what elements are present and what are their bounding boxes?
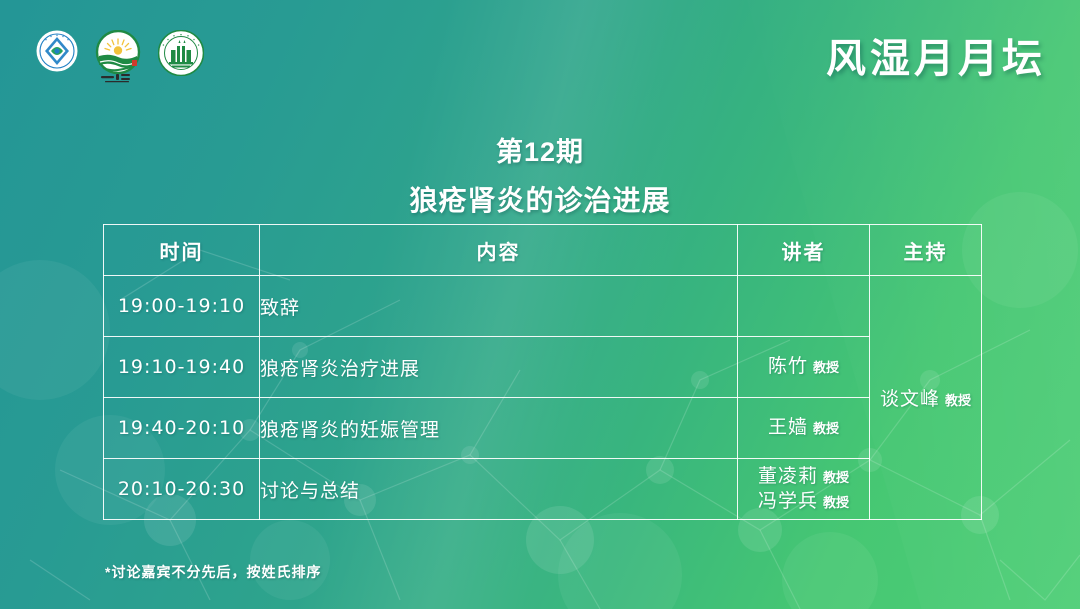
cell-time: 19:40-20:10 bbox=[104, 398, 260, 459]
cell-speaker: 王嫱教授 bbox=[738, 398, 870, 459]
host-title: 教授 bbox=[945, 393, 971, 408]
issue-number: 第12期 bbox=[0, 130, 1080, 169]
speaker-title: 教授 bbox=[813, 421, 839, 436]
host-name: 谈文峰 bbox=[880, 389, 940, 410]
table-row: 20:10-20:30 讨论与总结 董凌莉教授 冯学兵教授 bbox=[104, 459, 982, 520]
cell-time: 20:10-20:30 bbox=[104, 459, 260, 520]
cell-content: 讨论与总结 bbox=[260, 459, 738, 520]
speaker-entry: 冯学兵教授 bbox=[738, 489, 869, 514]
table-row: 19:40-20:10 狼疮肾炎的妊娠管理 王嫱教授 bbox=[104, 398, 982, 459]
cell-speaker: 董凌莉教授 冯学兵教授 bbox=[738, 459, 870, 520]
cell-speaker: 陈竹教授 bbox=[738, 337, 870, 398]
speaker-given: 竹 bbox=[788, 356, 808, 377]
speaker-given: 嫱 bbox=[788, 417, 808, 438]
brand-title: 风湿月月坛 bbox=[826, 26, 1046, 84]
poster-canvas: 风湿月月坛 第12期 狼疮肾炎的诊治进展 时间 内容 讲者 主持 19:00-1… bbox=[0, 0, 1080, 609]
schedule-table: 时间 内容 讲者 主持 19:00-19:10 致辞 谈文峰教授 19:10-1… bbox=[103, 224, 982, 520]
table-row: 19:10-19:40 狼疮肾炎治疗进展 陈竹教授 bbox=[104, 337, 982, 398]
cell-time: 19:10-19:40 bbox=[104, 337, 260, 398]
cell-host: 谈文峰教授 bbox=[870, 276, 982, 520]
speaker-title: 教授 bbox=[823, 470, 849, 485]
speaker-surname: 陈 bbox=[768, 356, 788, 377]
speaker-entry: 王嫱教授 bbox=[738, 415, 869, 440]
cell-speaker bbox=[738, 276, 870, 337]
column-header-content: 内容 bbox=[260, 225, 738, 276]
speaker-surname: 冯学兵 bbox=[758, 491, 818, 512]
column-header-host: 主持 bbox=[870, 225, 982, 276]
speaker-surname: 王 bbox=[768, 417, 788, 438]
logo-hospital-academy bbox=[158, 30, 204, 76]
cell-content: 致辞 bbox=[260, 276, 738, 337]
table-row: 19:00-19:10 致辞 谈文峰教授 bbox=[104, 276, 982, 337]
table-header-row: 时间 内容 讲者 主持 bbox=[104, 225, 982, 276]
speaker-entry: 董凌莉教授 bbox=[738, 464, 869, 489]
logo-yidao-academy bbox=[94, 30, 142, 86]
page-title: 狼疮肾炎的诊治进展 bbox=[0, 179, 1080, 219]
cell-content: 狼疮肾炎治疗进展 bbox=[260, 337, 738, 398]
cell-time: 19:00-19:10 bbox=[104, 276, 260, 337]
speaker-entry: 陈竹教授 bbox=[738, 354, 869, 379]
column-header-speaker: 讲者 bbox=[738, 225, 870, 276]
speaker-title: 教授 bbox=[823, 495, 849, 510]
speaker-surname: 董凌莉 bbox=[758, 466, 818, 487]
speaker-title: 教授 bbox=[813, 360, 839, 375]
cell-content: 狼疮肾炎的妊娠管理 bbox=[260, 398, 738, 459]
logo-jiangsu-medical-association bbox=[36, 30, 78, 72]
column-header-time: 时间 bbox=[104, 225, 260, 276]
footnote: *讨论嘉宾不分先后，按姓氏排序 bbox=[105, 562, 321, 582]
logo-group bbox=[36, 30, 204, 86]
